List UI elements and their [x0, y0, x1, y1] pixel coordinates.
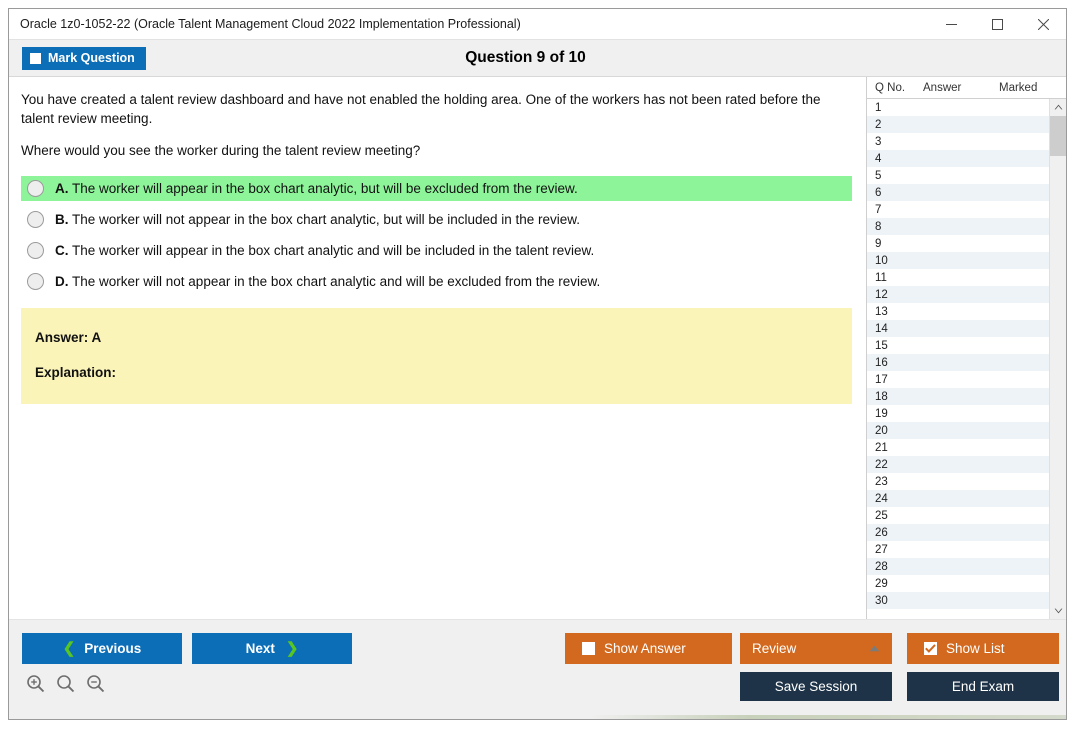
question-list-row[interactable]: 7	[867, 201, 1049, 218]
maximize-icon[interactable]	[974, 9, 1020, 39]
review-label: Review	[752, 641, 796, 656]
scroll-up-arrow-icon[interactable]	[1050, 99, 1066, 115]
mark-question-checkbox-icon	[30, 53, 41, 64]
question-list-number: 11	[867, 272, 923, 284]
question-list-row[interactable]: 26	[867, 524, 1049, 541]
show-list-checkbox-icon	[924, 642, 937, 655]
question-list-number: 20	[867, 425, 923, 437]
question-list-row[interactable]: 11	[867, 269, 1049, 286]
question-list-row[interactable]: 1	[867, 99, 1049, 116]
zoom-in-icon[interactable]	[26, 674, 45, 693]
show-answer-button[interactable]: Show Answer	[565, 633, 732, 664]
question-list-row[interactable]: 29	[867, 575, 1049, 592]
question-list-number: 25	[867, 510, 923, 522]
show-answer-label: Show Answer	[604, 641, 686, 656]
zoom-toolbar	[26, 674, 105, 693]
radio-button-icon[interactable]	[27, 211, 44, 228]
question-list-number: 26	[867, 527, 923, 539]
question-list-body: 1234567891011121314151617181920212223242…	[867, 99, 1066, 619]
save-session-button[interactable]: Save Session	[740, 672, 892, 701]
question-list-row[interactable]: 14	[867, 320, 1049, 337]
mark-question-button[interactable]: Mark Question	[22, 47, 146, 70]
question-list-number: 29	[867, 578, 923, 590]
question-list-number: 9	[867, 238, 923, 250]
footer-bottom-tint	[9, 715, 1066, 719]
question-list-pane: Q No. Answer Marked 12345678910111213141…	[866, 77, 1066, 619]
radio-button-icon[interactable]	[27, 242, 44, 259]
question-list-number: 27	[867, 544, 923, 556]
answer-option-body: The worker will appear in the box chart …	[72, 243, 594, 258]
answer-option-body: The worker will appear in the box chart …	[72, 181, 578, 196]
end-exam-button[interactable]: End Exam	[907, 672, 1059, 701]
question-list-rows: 1234567891011121314151617181920212223242…	[867, 99, 1049, 619]
question-list-number: 15	[867, 340, 923, 352]
answer-option-letter: A.	[55, 181, 69, 196]
answer-options-list: A. The worker will appear in the box cha…	[21, 176, 852, 294]
save-session-label: Save Session	[775, 679, 858, 694]
close-icon[interactable]	[1020, 9, 1066, 39]
next-button-label: Next	[246, 641, 275, 656]
zoom-out-icon[interactable]	[86, 674, 105, 693]
show-list-button[interactable]: Show List	[907, 633, 1059, 664]
question-list-number: 19	[867, 408, 923, 420]
answer-option-b[interactable]: B. The worker will not appear in the box…	[21, 207, 852, 232]
window-controls	[928, 9, 1066, 39]
question-list-number: 16	[867, 357, 923, 369]
answer-option-d[interactable]: D. The worker will not appear in the box…	[21, 269, 852, 294]
question-list-number: 23	[867, 476, 923, 488]
radio-button-icon[interactable]	[27, 180, 44, 197]
answer-option-body: The worker will not appear in the box ch…	[72, 212, 580, 227]
chevron-right-icon: ❯	[286, 641, 299, 656]
question-list-number: 21	[867, 442, 923, 454]
show-answer-checkbox-icon	[582, 642, 595, 655]
exam-body: You have created a talent review dashboa…	[9, 77, 1066, 619]
question-list-row[interactable]: 27	[867, 541, 1049, 558]
answer-option-text: C. The worker will appear in the box cha…	[55, 242, 594, 260]
column-header-answer: Answer	[923, 82, 999, 94]
question-list-row[interactable]: 9	[867, 235, 1049, 252]
window-title: Oracle 1z0-1052-22 (Oracle Talent Manage…	[9, 17, 521, 31]
question-list-row[interactable]: 16	[867, 354, 1049, 371]
question-list-row[interactable]: 20	[867, 422, 1049, 439]
column-header-marked: Marked	[999, 82, 1066, 94]
question-list-number: 8	[867, 221, 923, 233]
answer-option-text: B. The worker will not appear in the box…	[55, 211, 580, 229]
question-list-row[interactable]: 18	[867, 388, 1049, 405]
question-list-number: 14	[867, 323, 923, 335]
question-list-number: 22	[867, 459, 923, 471]
exam-footer: ❮ Previous Next ❯ Show Answer Review Sho…	[9, 619, 1066, 719]
question-list-number: 28	[867, 561, 923, 573]
question-list-row[interactable]: 2	[867, 116, 1049, 133]
question-list-row[interactable]: 24	[867, 490, 1049, 507]
answer-option-text: D. The worker will not appear in the box…	[55, 273, 600, 291]
question-list-number: 24	[867, 493, 923, 505]
question-list-row[interactable]: 17	[867, 371, 1049, 388]
answer-option-letter: B.	[55, 212, 69, 227]
question-counter: Question 9 of 10	[9, 49, 1066, 67]
question-list-number: 5	[867, 170, 923, 182]
question-list-number: 18	[867, 391, 923, 403]
question-list-row[interactable]: 13	[867, 303, 1049, 320]
question-list-row[interactable]: 25	[867, 507, 1049, 524]
review-dropdown-button[interactable]: Review	[740, 633, 892, 664]
question-list-header: Q No. Answer Marked	[867, 77, 1066, 99]
question-list-row[interactable]: 22	[867, 456, 1049, 473]
question-paragraph-2: Where would you see the worker during th…	[21, 141, 852, 160]
question-list-number: 30	[867, 595, 923, 607]
chevron-left-icon: ❮	[63, 641, 76, 656]
answer-value: Answer: A	[35, 330, 852, 345]
minimize-icon[interactable]	[928, 9, 974, 39]
question-list-number: 13	[867, 306, 923, 318]
column-header-qno: Q No.	[867, 82, 923, 94]
answer-explanation-panel: Answer: A Explanation:	[21, 308, 852, 404]
question-list-row[interactable]: 21	[867, 439, 1049, 456]
answer-option-a[interactable]: A. The worker will appear in the box cha…	[21, 176, 852, 201]
question-list-row[interactable]: 15	[867, 337, 1049, 354]
question-list-row[interactable]: 6	[867, 184, 1049, 201]
question-list-row[interactable]: 28	[867, 558, 1049, 575]
question-list-row[interactable]: 10	[867, 252, 1049, 269]
chevron-up-icon	[869, 645, 880, 652]
answer-option-letter: C.	[55, 243, 69, 258]
question-list-row[interactable]: 8	[867, 218, 1049, 235]
title-bar: Oracle 1z0-1052-22 (Oracle Talent Manage…	[9, 9, 1066, 40]
question-list-number: 10	[867, 255, 923, 267]
question-list-number: 3	[867, 136, 923, 148]
exam-window: Oracle 1z0-1052-22 (Oracle Talent Manage…	[8, 8, 1067, 720]
question-list-row[interactable]: 3	[867, 133, 1049, 150]
question-list-row[interactable]: 30	[867, 592, 1049, 609]
question-content-pane: You have created a talent review dashboa…	[9, 77, 866, 619]
question-list-row[interactable]: 19	[867, 405, 1049, 422]
question-list-number: 2	[867, 119, 923, 131]
question-list-number: 12	[867, 289, 923, 301]
radio-button-icon[interactable]	[27, 273, 44, 290]
question-list-number: 6	[867, 187, 923, 199]
answer-option-c[interactable]: C. The worker will appear in the box cha…	[21, 238, 852, 263]
end-exam-label: End Exam	[952, 679, 1014, 694]
question-list-number: 17	[867, 374, 923, 386]
show-list-label: Show List	[946, 641, 1005, 656]
question-list-number: 4	[867, 153, 923, 165]
scrollbar-thumb[interactable]	[1050, 116, 1066, 156]
question-list-row[interactable]: 5	[867, 167, 1049, 184]
question-paragraph-1: You have created a talent review dashboa…	[21, 90, 852, 128]
mark-question-label: Mark Question	[48, 51, 135, 65]
question-list-row[interactable]: 23	[867, 473, 1049, 490]
question-list-number: 7	[867, 204, 923, 216]
question-list-row[interactable]: 4	[867, 150, 1049, 167]
exam-header: Mark Question Question 9 of 10	[9, 40, 1066, 77]
answer-option-text: A. The worker will appear in the box cha…	[55, 180, 578, 198]
previous-button-label: Previous	[84, 641, 141, 656]
question-list-row[interactable]: 12	[867, 286, 1049, 303]
question-list-scrollbar[interactable]	[1049, 99, 1066, 619]
answer-option-letter: D.	[55, 274, 69, 289]
question-list-number: 1	[867, 102, 923, 114]
answer-option-body: The worker will not appear in the box ch…	[72, 274, 600, 289]
explanation-label: Explanation:	[35, 365, 852, 380]
zoom-reset-icon[interactable]	[56, 674, 75, 693]
scroll-down-arrow-icon[interactable]	[1050, 603, 1066, 619]
previous-button[interactable]: ❮ Previous	[22, 633, 182, 664]
next-button[interactable]: Next ❯	[192, 633, 352, 664]
